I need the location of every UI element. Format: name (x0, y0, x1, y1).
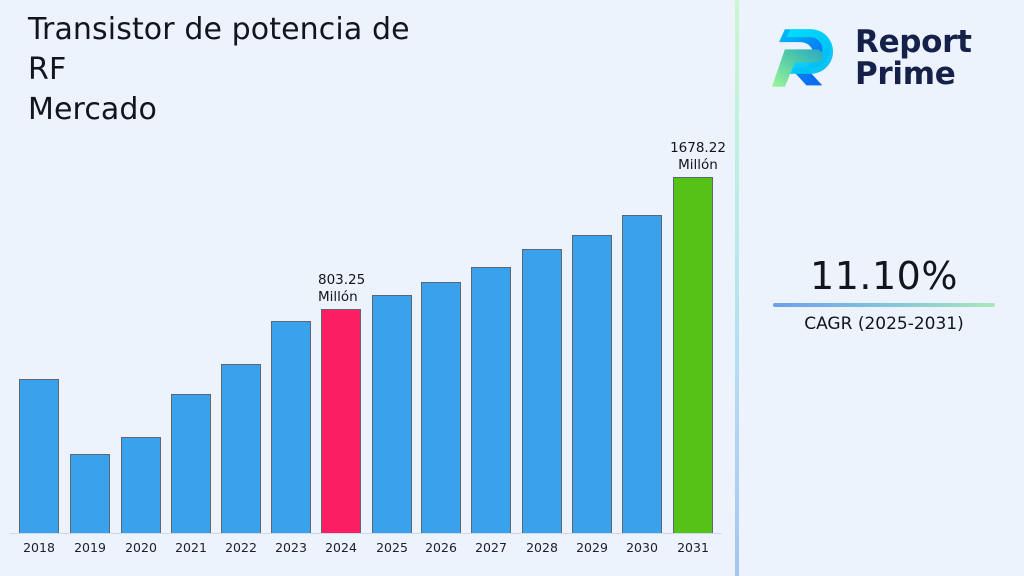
bar-2027[interactable] (471, 267, 511, 533)
bar-2023[interactable] (271, 321, 311, 533)
x-tick-label-2023: 2023 (266, 540, 316, 555)
x-axis-line (10, 533, 722, 534)
bar-2029[interactable] (572, 235, 612, 533)
cagr-value: 11.10% (759, 253, 1009, 299)
bar-value-label-2024: 803.25 Millón (318, 272, 365, 306)
x-tick-label-2019: 2019 (65, 540, 115, 555)
bar-value-label-2031: 1678.22 Millón (648, 140, 748, 174)
cagr-block: 11.10% CAGR (2025-2031) (759, 253, 1009, 335)
bar-chart-plot-area: 803.25 Millón 1678.22 Millón 20182019202… (0, 0, 736, 576)
bar-2024[interactable] (321, 309, 361, 533)
cagr-caption: CAGR (2025-2031) (759, 313, 1009, 335)
x-tick-label-2029: 2029 (567, 540, 617, 555)
bar-2021[interactable] (171, 394, 211, 533)
x-tick-label-2022: 2022 (216, 540, 266, 555)
bar-2026[interactable] (421, 282, 461, 533)
brand-name: Report Prime (855, 26, 972, 90)
x-tick-label-2024: 2024 (316, 540, 366, 555)
right-panel: Report Prime 11.10% CAGR (2025-2031) (739, 0, 1024, 576)
chart-panel: Transistor de potencia de RF Mercado 803… (0, 0, 736, 576)
x-tick-label-2030: 2030 (617, 540, 667, 555)
bar-2018[interactable] (19, 379, 59, 533)
x-tick-label-2031: 2031 (668, 540, 718, 555)
bar-2031[interactable] (673, 177, 713, 533)
report-prime-r-logo-icon (769, 22, 841, 94)
bar-2030[interactable] (622, 215, 662, 533)
cagr-divider-rule (773, 303, 995, 307)
bar-2022[interactable] (221, 364, 261, 533)
x-tick-label-2026: 2026 (416, 540, 466, 555)
brand-logo: Report Prime (769, 14, 1019, 102)
x-tick-label-2027: 2027 (466, 540, 516, 555)
bar-2028[interactable] (522, 249, 562, 533)
x-tick-label-2025: 2025 (367, 540, 417, 555)
bar-2025[interactable] (372, 295, 412, 533)
x-tick-label-2020: 2020 (116, 540, 166, 555)
x-tick-label-2018: 2018 (14, 540, 64, 555)
x-tick-label-2028: 2028 (517, 540, 567, 555)
infographic-root: Transistor de potencia de RF Mercado 803… (0, 0, 1024, 576)
bar-2019[interactable] (70, 454, 110, 533)
bar-2020[interactable] (121, 437, 161, 533)
x-tick-label-2021: 2021 (166, 540, 216, 555)
